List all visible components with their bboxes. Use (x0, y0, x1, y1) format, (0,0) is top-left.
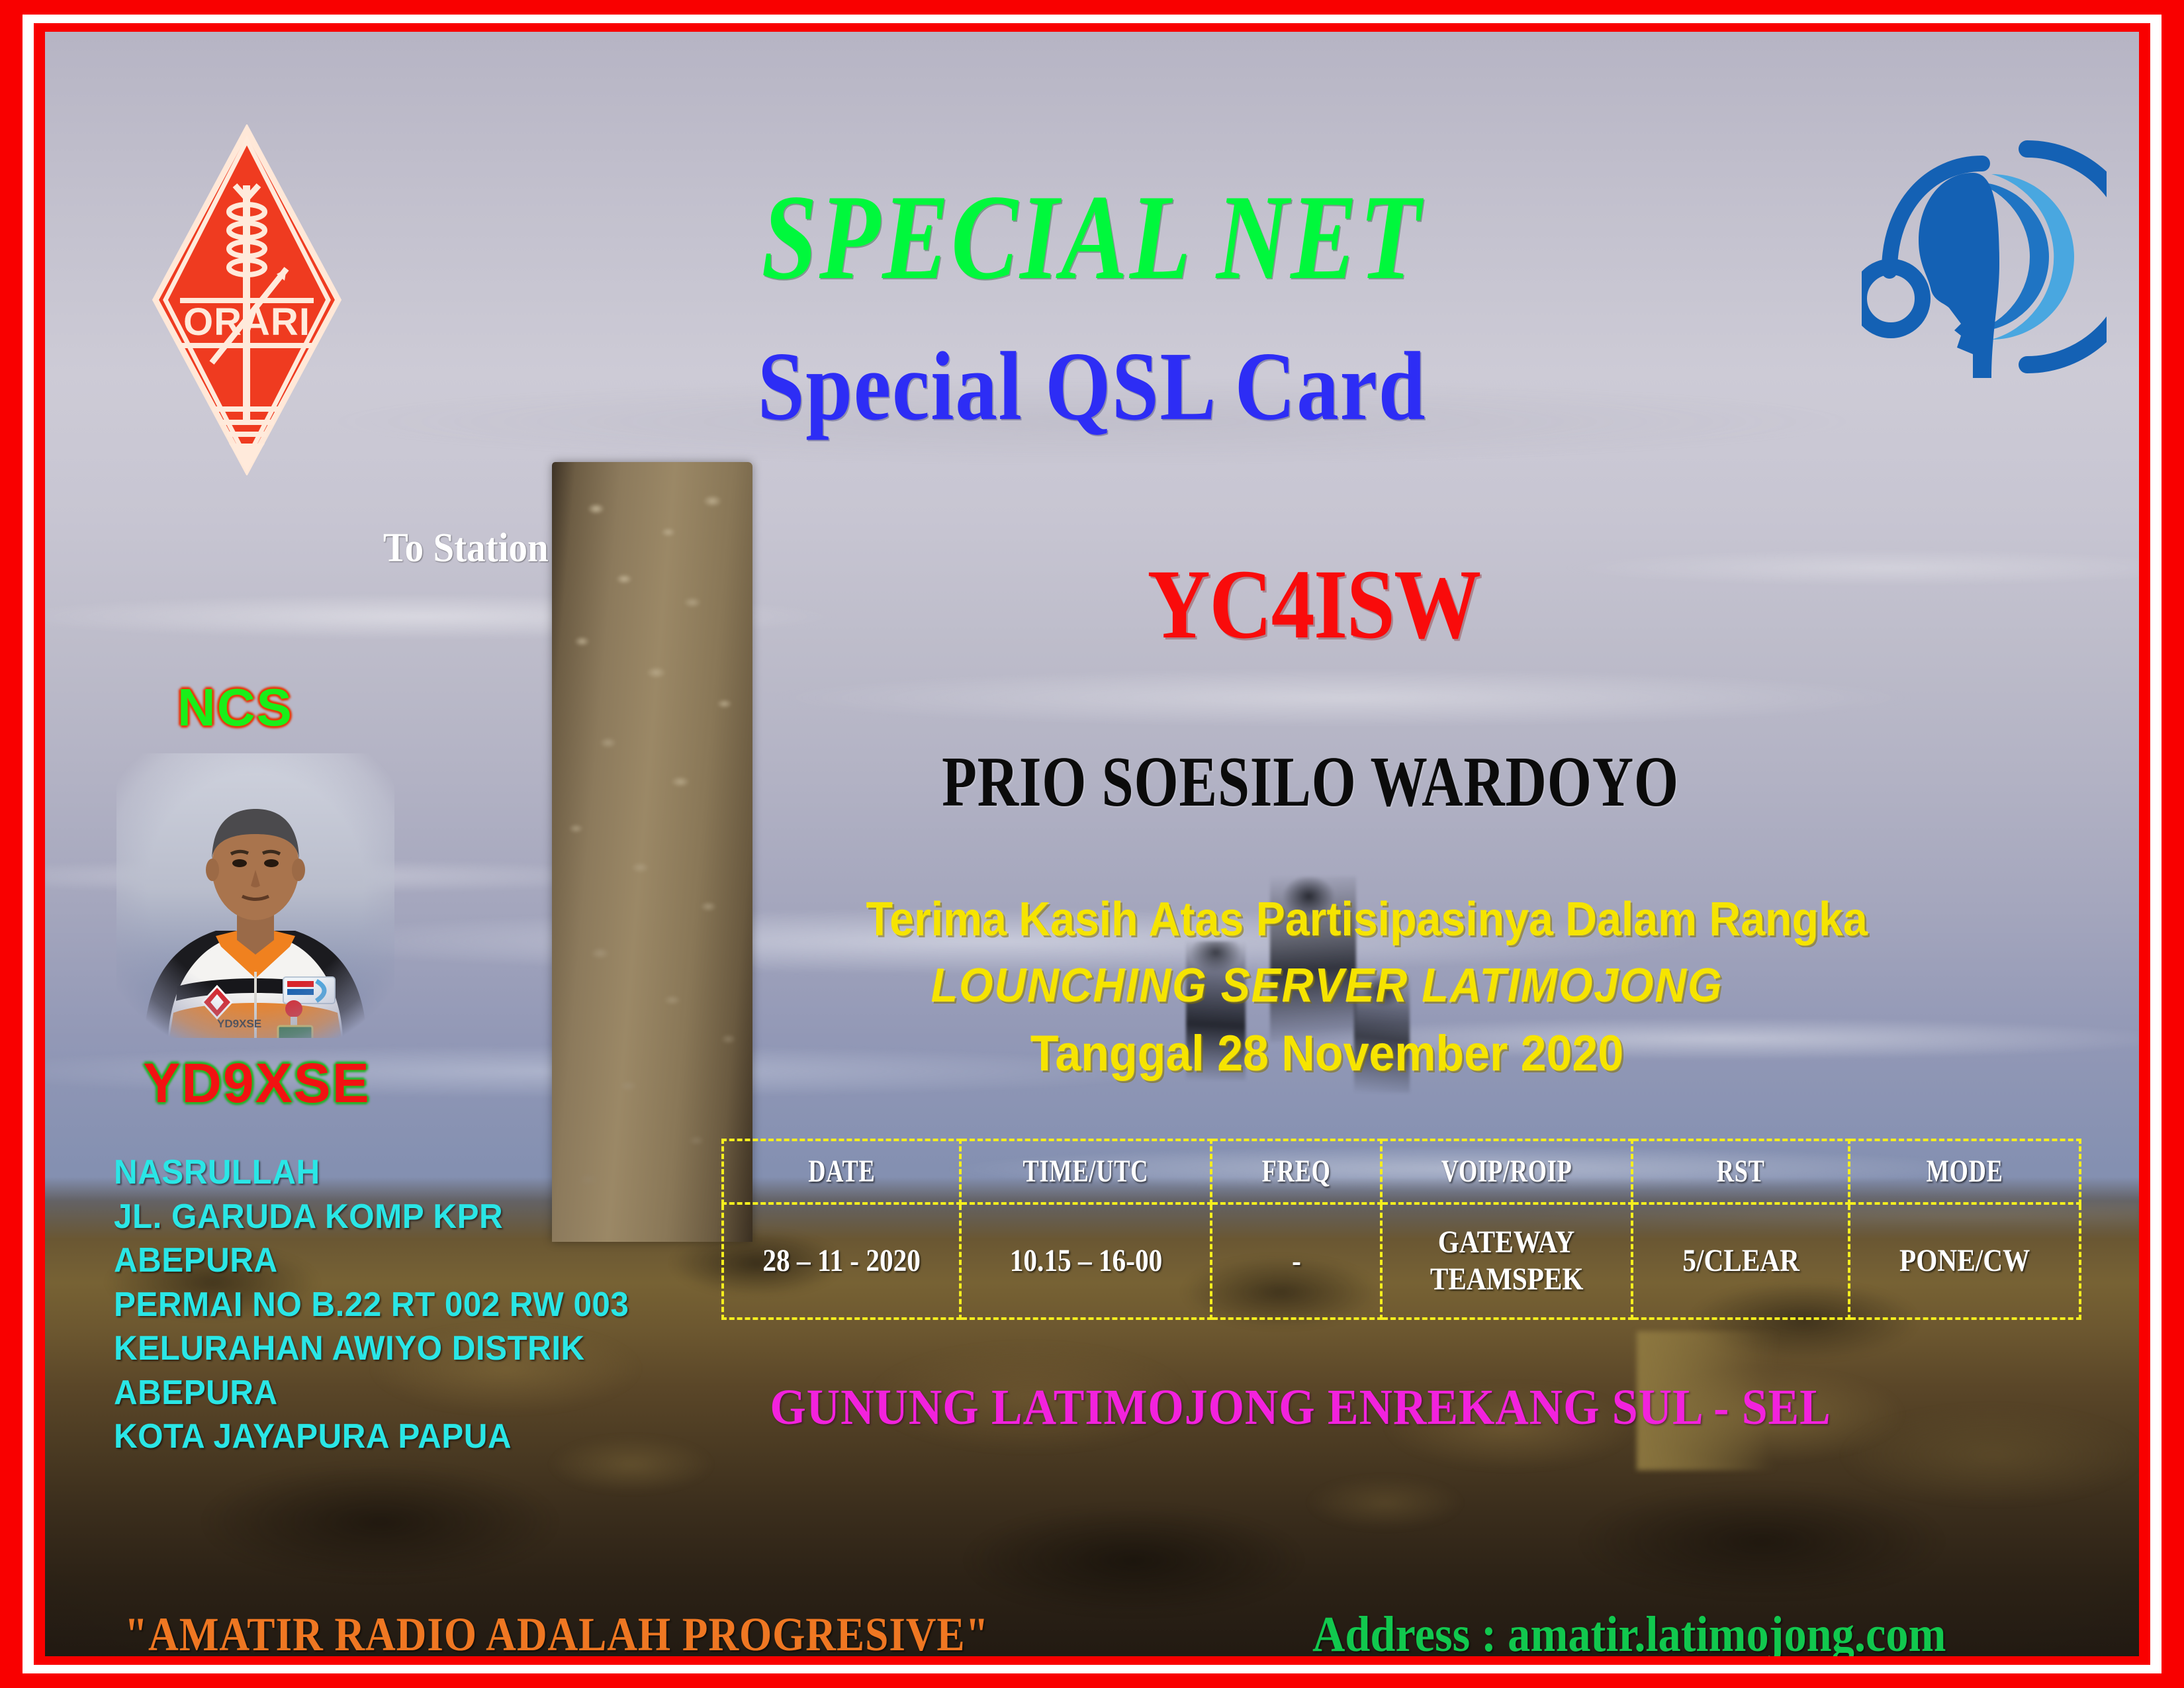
uniform-callsign-text: YD9XSE (217, 1017, 261, 1030)
event-name: LOUNCHING SERVER LATIMOJONG (866, 959, 1788, 1013)
to-station-label: To Station (383, 525, 549, 572)
card-inner-red-frame: ORARI (34, 23, 2150, 1665)
footer-motto: "AMATIR RADIO ADALAH PROGRESIVE" (124, 1607, 989, 1656)
event-date: Tanggal 28 November 2020 (866, 1025, 1788, 1082)
address-line: ABEPURA (114, 1371, 636, 1415)
ncs-label: NCS (177, 677, 293, 738)
cell-time: 10.15 – 16-00 (960, 1203, 1211, 1319)
cell-voip-roip: GATEWAY TEAMSPEK (1381, 1203, 1632, 1319)
qsl-card: ORARI (0, 0, 2184, 1688)
page-subtitle: Special QSL Card (191, 338, 1992, 436)
cell-mode: PONE/CW (1849, 1203, 2080, 1319)
column-header-time: TIME/UTC (976, 1140, 1197, 1203)
footer-web-address: Address : amatir.latimojong.com (1312, 1606, 1946, 1656)
column-header-date: DATE (737, 1140, 946, 1203)
qso-log-table: DATE TIME/UTC FREQ VOIP/ROIP RST MODE 28… (721, 1139, 2081, 1320)
page-title: SPECIAL NET (234, 176, 1950, 298)
column-header-freq: FREQ (1222, 1140, 1371, 1203)
column-header-voip-roip: VOIP/ROIP (1396, 1140, 1617, 1203)
table-row: 28 – 11 - 2020 10.15 – 16-00 - GATEWAY T… (723, 1203, 2080, 1319)
card-photo-stage: ORARI (45, 32, 2139, 1656)
address-line: KELURAHAN AWIYO DISTRIK (114, 1327, 636, 1371)
sender-address: NASRULLAH JL. GARUDA KOMP KPR ABEPURA PE… (114, 1150, 636, 1459)
cell-rst: 5/CLEAR (1632, 1203, 1849, 1319)
address-line: KOTA JAYAPURA PAPUA (114, 1415, 636, 1459)
location-caption: GUNUNG LATIMOJONG ENREKANG SUL - SEL (730, 1379, 1871, 1436)
address-line: ABEPURA (114, 1239, 636, 1283)
address-line: JL. GARUDA KOMP KPR (114, 1195, 636, 1239)
column-header-mode: MODE (1863, 1140, 2066, 1203)
recipient-callsign: YC4ISW (890, 555, 1737, 654)
address-line: PERMAI NO B.22 RT 002 RW 003 (114, 1283, 636, 1327)
card-white-frame: ORARI (23, 15, 2161, 1673)
column-header-rst: RST (1645, 1140, 1837, 1203)
ncs-operator-photo: YD9XSE (116, 753, 394, 1038)
recipient-name: PRIO SOESILO WARDOYO (891, 747, 1729, 818)
thanks-message: Terima Kasih Atas Partisipasinya Dalam R… (866, 892, 1788, 947)
table-header-row: DATE TIME/UTC FREQ VOIP/ROIP RST MODE (723, 1140, 2080, 1203)
ncs-callsign: YD9XSE (111, 1051, 402, 1115)
cell-date: 28 – 11 - 2020 (723, 1203, 960, 1319)
address-line: NASRULLAH (114, 1150, 636, 1195)
cell-freq: - (1211, 1203, 1381, 1319)
